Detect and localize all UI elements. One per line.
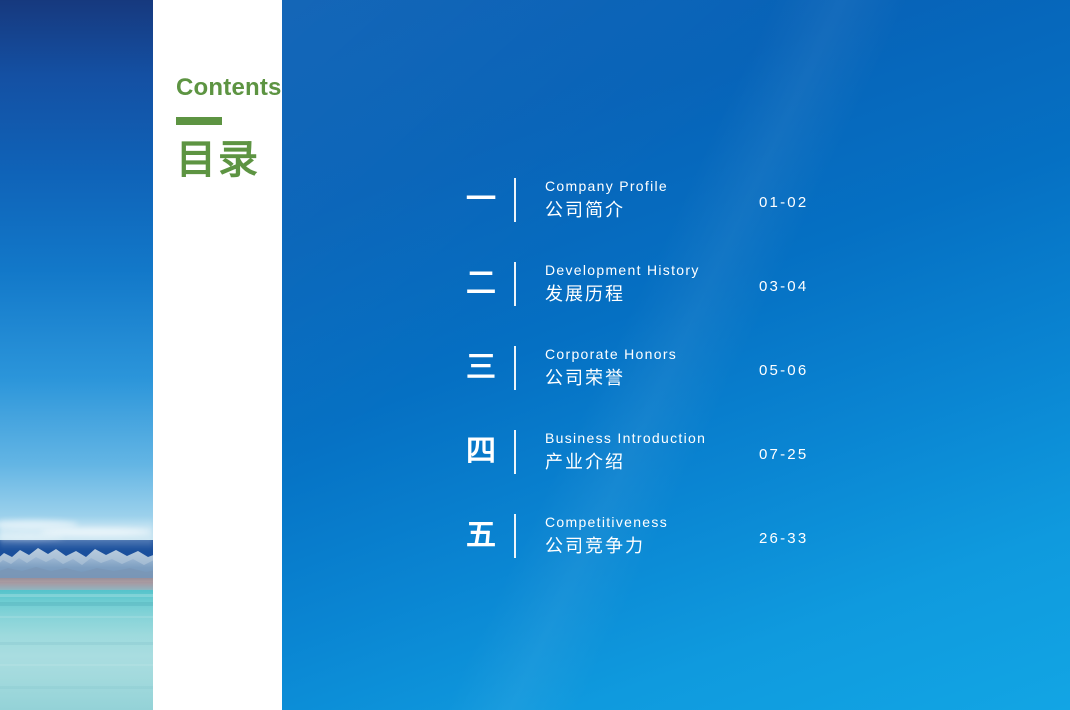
toc-label-english: Company Profile [545,176,668,196]
toc-divider [514,514,516,558]
toc-page-range: 03-04 [759,278,808,295]
page-title-chinese: 目录 [176,139,336,181]
toc-labels: Company Profile 公司简介 [545,176,668,223]
toc-entry[interactable]: 三 Corporate Honors 公司荣誉 05-06 [459,338,859,422]
toc-label-english: Development History [545,260,700,280]
mountain-range [0,540,153,582]
toc-entry[interactable]: 五 Competitiveness 公司竞争力 26-33 [459,506,859,590]
water-streak [0,594,153,597]
water-streak [0,642,153,645]
toc-divider [514,430,516,474]
toc-numeral: 三 [459,346,503,390]
water-streak [0,602,153,606]
slide-canvas: Contents 目录 一 Company Profile 公司简介 01-02… [0,0,1070,710]
toc-page-range: 07-25 [759,446,808,463]
lake-water [0,590,153,710]
toc-label-chinese: 公司竞争力 [545,534,668,558]
toc-numeral: 五 [459,514,503,558]
toc-entry[interactable]: 四 Business Introduction 产业介绍 07-25 [459,422,859,506]
water-streak [0,616,153,618]
toc-entry[interactable]: 一 Company Profile 公司简介 01-02 [459,170,859,254]
water-streak [0,686,153,689]
toc-label-chinese: 公司简介 [545,198,668,222]
toc-labels: Development History 发展历程 [545,260,700,307]
table-of-contents: 一 Company Profile 公司简介 01-02 二 Developme… [459,170,859,590]
toc-label-english: Corporate Honors [545,344,677,364]
toc-page-range: 26-33 [759,530,808,547]
toc-label-chinese: 发展历程 [545,282,700,306]
page-title-english: Contents [176,76,336,100]
landscape-photo [0,0,153,710]
toc-label-english: Competitiveness [545,512,668,532]
toc-divider [514,178,516,222]
toc-numeral: 四 [459,430,503,474]
toc-divider [514,346,516,390]
toc-label-chinese: 产业介绍 [545,450,706,474]
sky-gradient [0,0,153,540]
toc-labels: Competitiveness 公司竞争力 [545,512,668,559]
toc-entry[interactable]: 二 Development History 发展历程 03-04 [459,254,859,338]
toc-label-english: Business Introduction [545,428,706,448]
page-title-block: Contents 目录 [176,76,336,181]
toc-page-range: 05-06 [759,362,808,379]
toc-label-chinese: 公司荣誉 [545,366,677,390]
toc-labels: Corporate Honors 公司荣誉 [545,344,677,391]
toc-page-range: 01-02 [759,194,808,211]
toc-labels: Business Introduction 产业介绍 [545,428,706,475]
toc-numeral: 一 [459,178,503,222]
toc-numeral: 二 [459,262,503,306]
water-streak [0,664,153,666]
toc-divider [514,262,516,306]
title-underline-rule [176,117,222,125]
